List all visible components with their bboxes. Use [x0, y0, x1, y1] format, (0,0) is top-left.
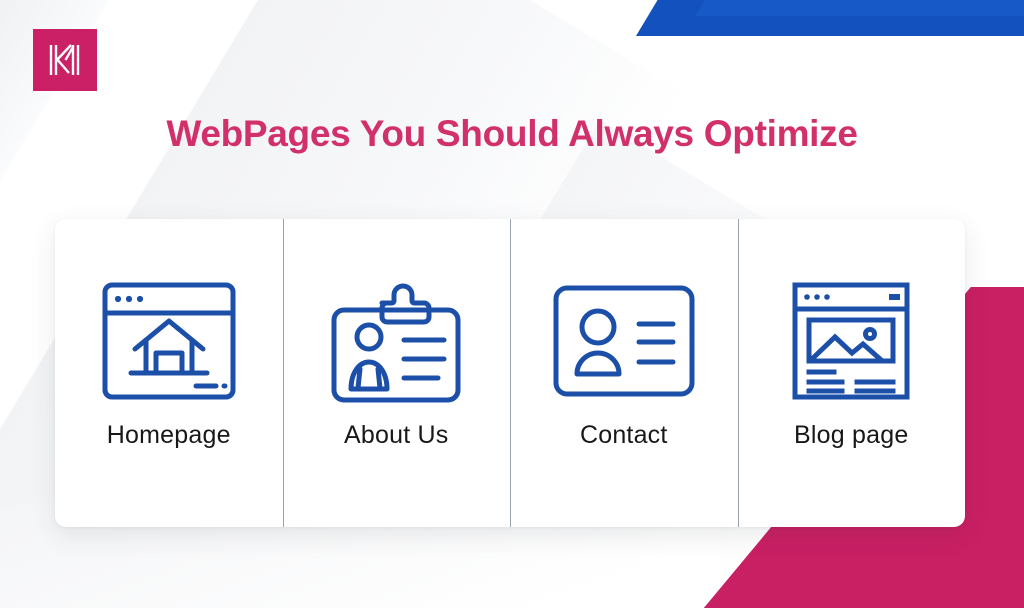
- blue-corner-banner: [636, 0, 1024, 36]
- page-title: WebPages You Should Always Optimize: [0, 113, 1024, 155]
- card-label: Homepage: [107, 421, 231, 450]
- card-homepage[interactable]: Homepage: [55, 219, 283, 527]
- blue-corner-banner-highlight: [695, 0, 1024, 16]
- card-icon-wrap: [328, 275, 464, 407]
- card-label: Contact: [580, 421, 668, 450]
- card-blog-page[interactable]: Blog page: [738, 219, 966, 527]
- browser-window-house-icon: [100, 280, 238, 402]
- card-label: Blog page: [794, 421, 908, 450]
- cards-panel: Homepage: [55, 219, 965, 527]
- browser-window-article-icon: [790, 280, 912, 402]
- card-label: About Us: [344, 421, 448, 450]
- card-icon-wrap: [100, 275, 238, 407]
- infographic-canvas: WebPages You Should Always Optimize: [0, 0, 1024, 608]
- km-monogram-icon: [45, 40, 85, 80]
- card-icon-wrap: [551, 275, 697, 407]
- card-about-us[interactable]: About Us: [283, 219, 511, 527]
- card-contact[interactable]: Contact: [510, 219, 738, 527]
- km-monogram-logo: [33, 29, 97, 91]
- id-badge-person-icon: [328, 277, 464, 405]
- contact-card-person-icon: [551, 283, 697, 399]
- card-icon-wrap: [790, 275, 912, 407]
